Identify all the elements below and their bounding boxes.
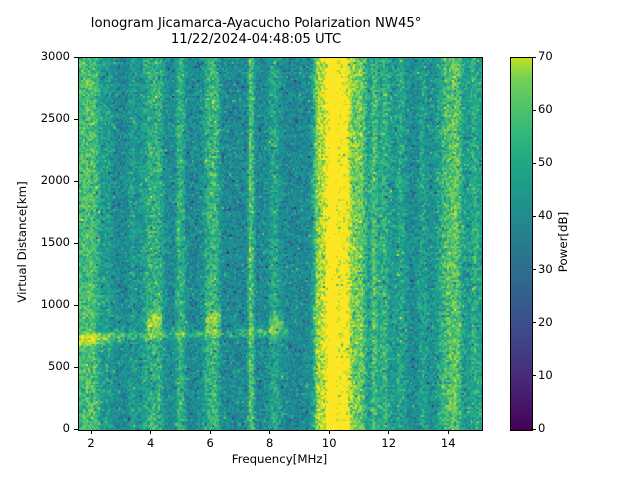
chart-title: Ionogram Jicamarca-Ayacucho Polarization… (0, 16, 512, 48)
x-axis-tick-label: 6 (206, 436, 213, 450)
y-axis-tick (74, 243, 78, 244)
y-axis-tick (74, 57, 78, 58)
colorbar-tick-label: 10 (538, 368, 553, 382)
x-axis-tick (269, 430, 270, 434)
x-axis-tick-label: 10 (322, 436, 337, 450)
colorbar-tick-label: 20 (538, 315, 553, 329)
x-axis-label: Frequency[MHz] (78, 452, 481, 466)
colorbar-tick-label: 70 (538, 49, 553, 63)
colorbar-tick (532, 110, 536, 111)
colorbar-tick (532, 429, 536, 430)
colorbar-tick (532, 322, 536, 323)
y-axis-tick-label: 2000 (0, 173, 70, 187)
heatmap-axes (78, 57, 483, 431)
colorbar-tick-label: 30 (538, 262, 553, 276)
x-axis-tick-label: 14 (441, 436, 456, 450)
x-axis-tick (91, 430, 92, 434)
y-axis-tick (74, 429, 78, 430)
x-axis-tick (210, 430, 211, 434)
colorbar-tick (532, 57, 536, 58)
colorbar-tick-label: 40 (538, 208, 553, 222)
y-axis-tick (74, 367, 78, 368)
colorbar-tick-label: 0 (538, 421, 545, 435)
y-axis-tick-label: 500 (0, 359, 70, 373)
y-axis-label: Virtual Distance[km] (15, 56, 29, 428)
y-axis-tick (74, 305, 78, 306)
colorbar-tick-label: 50 (538, 155, 553, 169)
y-axis-tick-label: 2500 (0, 111, 70, 125)
colorbar-tick (532, 163, 536, 164)
colorbar-tick (532, 269, 536, 270)
colorbar-label: Power[dB] (556, 202, 570, 282)
colorbar-tick (532, 216, 536, 217)
colorbar (510, 57, 533, 431)
ionogram-figure: Ionogram Jicamarca-Ayacucho Polarization… (0, 0, 640, 480)
colorbar-tick-label: 60 (538, 102, 553, 116)
y-axis-tick-label: 3000 (0, 49, 70, 63)
colorbar-tick (532, 375, 536, 376)
x-axis-tick (388, 430, 389, 434)
y-axis-tick-label: 0 (0, 421, 70, 435)
y-axis-tick (74, 181, 78, 182)
x-axis-tick-label: 4 (147, 436, 154, 450)
ionogram-heatmap-canvas (79, 58, 482, 430)
y-axis-tick-label: 1500 (0, 235, 70, 249)
y-axis-tick-label: 1000 (0, 297, 70, 311)
x-axis-tick (329, 430, 330, 434)
x-axis-tick-label: 2 (87, 436, 94, 450)
x-axis-tick-label: 12 (381, 436, 396, 450)
x-axis-tick-label: 8 (266, 436, 273, 450)
y-axis-tick (74, 119, 78, 120)
x-axis-tick (150, 430, 151, 434)
x-axis-tick (448, 430, 449, 434)
